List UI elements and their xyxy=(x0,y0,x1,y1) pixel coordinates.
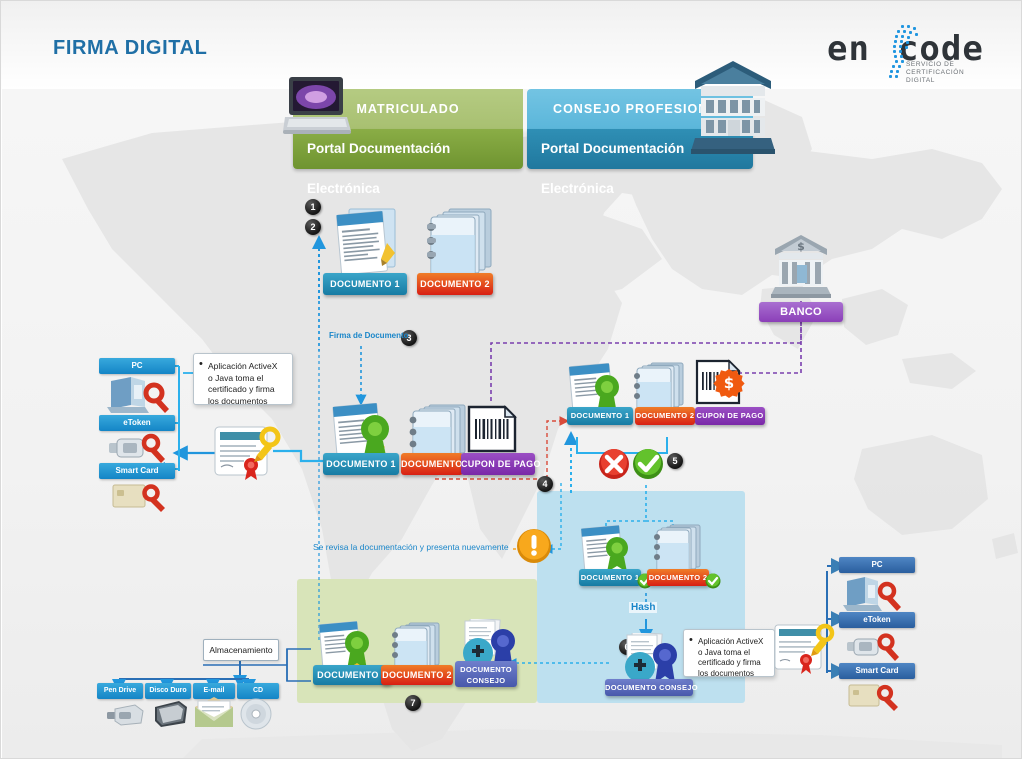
note-firma-documento: Firma de Documento xyxy=(329,331,409,340)
chip-documento-1-verified[interactable]: DOCUMENTO 1 xyxy=(579,569,641,586)
svg-text:$: $ xyxy=(724,374,734,392)
certificate-key-icon xyxy=(213,423,283,486)
chip-cupon-de-pago-consejo[interactable]: CUPON DE PAGO xyxy=(695,407,765,425)
reject-x-icon[interactable] xyxy=(597,447,631,486)
device-left-pc-label[interactable]: PC xyxy=(99,358,175,374)
chip-documento-2-top[interactable]: DOCUMENTO 2 xyxy=(417,273,493,295)
step-marker-5: 5 xyxy=(667,453,683,469)
chip-documento-2-archived[interactable]: DOCUMENTO 2 xyxy=(381,665,453,685)
pendrive-icon xyxy=(105,701,145,734)
certificate-key-icon-right xyxy=(773,621,837,680)
chip-documento-2-verified[interactable]: DOCUMENTO 2 xyxy=(647,569,709,586)
bank-building-icon: $ xyxy=(769,233,833,304)
smartcard-key-icon xyxy=(111,481,169,518)
device-right-pc-label[interactable]: PC xyxy=(839,557,915,573)
chip-banco[interactable]: BANCO xyxy=(759,302,843,322)
harddisk-icon xyxy=(149,699,191,734)
email-envelope-icon xyxy=(193,697,235,734)
step-marker-7: 7 xyxy=(405,695,421,711)
storage-title-box: Almacenamiento xyxy=(203,639,279,661)
svg-text:$: $ xyxy=(797,240,805,253)
logo-text-left: en xyxy=(827,29,870,69)
storage-option-pendrive[interactable]: Pen Drive xyxy=(97,683,143,699)
page-header: FIRMA DIGITAL encode SERVICIO DECERTIFIC… xyxy=(1,1,1022,89)
device-left-etoken-label[interactable]: eToken xyxy=(99,415,175,431)
step-marker-2: 2 xyxy=(305,219,321,235)
cd-disc-icon xyxy=(239,697,273,736)
diagram-page: FIRMA DIGITAL encode SERVICIO DECERTIFIC… xyxy=(0,0,1022,759)
note-revision: Se revisa la documentación y presenta nu… xyxy=(313,542,509,552)
chip-documento-1-archived[interactable]: DOCUMENTO 1 xyxy=(313,665,391,685)
step-marker-4: 4 xyxy=(537,476,553,492)
chip-documento-2-consejo[interactable]: DOCUMENTO 2 xyxy=(635,407,695,425)
note-hash: Hash xyxy=(629,602,657,613)
step-marker-1: 1 xyxy=(305,199,321,215)
storage-option-discoduro[interactable]: Disco Duro xyxy=(145,683,191,699)
laptop-icon xyxy=(283,75,351,144)
device-right-smartcard-label[interactable]: Smart Card xyxy=(839,663,915,679)
chip-documento-1-consejo[interactable]: DOCUMENTO 1 xyxy=(567,407,633,425)
chip-documento-consejo-l1: DOCUMENTO xyxy=(460,665,512,674)
institution-building-icon xyxy=(691,59,775,162)
chip-cupon-de-pago[interactable]: CUPON DE PAGO xyxy=(461,453,535,475)
pc-key-icon xyxy=(105,375,171,420)
encode-logo: encode SERVICIO DECERTIFICACIÓNDIGITAL xyxy=(827,23,1007,85)
page-title: FIRMA DIGITAL xyxy=(53,37,207,60)
chip-documento-1-signed[interactable]: DOCUMENTO 1 xyxy=(323,453,399,475)
smartcard-key-icon-right xyxy=(847,682,903,717)
callout-activex-right: Aplicación ActiveX o Java toma el certif… xyxy=(683,629,775,677)
warning-exclamation-icon xyxy=(515,527,553,570)
device-right-etoken-label[interactable]: eToken xyxy=(839,612,915,628)
chip-documento-consejo-blue[interactable]: DOCUMENTO CONSEJO xyxy=(605,679,693,696)
payment-coupon-barcode-icon xyxy=(467,405,517,458)
accept-check-icon[interactable] xyxy=(631,447,665,486)
chip-documento-2-signed[interactable]: DOCUMENTO 2 xyxy=(401,453,463,475)
chip-documento-1-top[interactable]: DOCUMENTO 1 xyxy=(323,273,407,295)
callout-activex-left: Aplicación ActiveX o Java toma el certif… xyxy=(193,353,293,405)
chip-documento-consejo-l2: CONSEJO xyxy=(467,676,506,685)
device-left-smartcard-label[interactable]: Smart Card xyxy=(99,463,175,479)
logo-subtitle: SERVICIO DECERTIFICACIÓNDIGITAL xyxy=(906,61,964,85)
chip-documento-consejo-archived[interactable]: DOCUMENTOCONSEJO xyxy=(455,661,517,687)
verified-badge-icon-2 xyxy=(705,573,721,594)
